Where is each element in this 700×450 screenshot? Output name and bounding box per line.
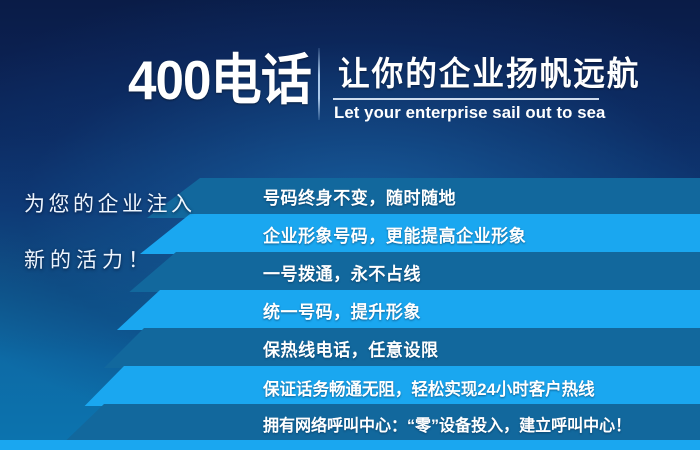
feature-label: 一号拨通，永不占线 bbox=[263, 261, 421, 286]
feature-label: 保热线电话，任意设限 bbox=[263, 337, 439, 362]
feature-label: 统一号码，提升形象 bbox=[263, 299, 421, 324]
promo-banner: 400电话 让你的企业扬帆远航 Let your enterprise sail… bbox=[0, 0, 700, 450]
feature-row: 企业形象号码，更能提高企业形象 bbox=[263, 216, 535, 254]
header-divider bbox=[318, 48, 320, 120]
feature-label: 号码终身不变，随时随地 bbox=[263, 185, 456, 210]
feature-row: 一号拨通，永不占线 bbox=[263, 254, 426, 292]
feature-label: 企业形象号码，更能提高企业形象 bbox=[263, 223, 526, 248]
feature-row: 拥有网络呼叫中心：“零”设备投入，建立呼叫中心！ bbox=[263, 405, 643, 443]
feature-row: 保证话务畅通无阻，轻松实现24小时客户热线 bbox=[263, 368, 605, 406]
feature-row: 号码终身不变，随时随地 bbox=[263, 178, 462, 216]
feature-list: 号码终身不变，随时随地 企业形象号码，更能提高企业形象 一号拨通，永不占线 统一… bbox=[0, 178, 700, 450]
feature-row: 统一号码，提升形象 bbox=[263, 292, 426, 330]
banner-header: 400电话 让你的企业扬帆远航 Let your enterprise sail… bbox=[0, 0, 700, 150]
slogan-chinese: 让你的企业扬帆远航 bbox=[338, 55, 640, 93]
slogan-underline bbox=[333, 98, 599, 100]
feature-label: 保证话务畅通无阻，轻松实现24小时客户热线 bbox=[263, 375, 595, 400]
feature-row: 保热线电话，任意设限 bbox=[263, 330, 444, 368]
logo-400-telephone: 400电话 bbox=[128, 52, 311, 108]
slogan-english: Let your enterprise sail out to sea bbox=[334, 102, 605, 124]
feature-label: 拥有网络呼叫中心：“零”设备投入，建立呼叫中心！ bbox=[263, 412, 631, 436]
